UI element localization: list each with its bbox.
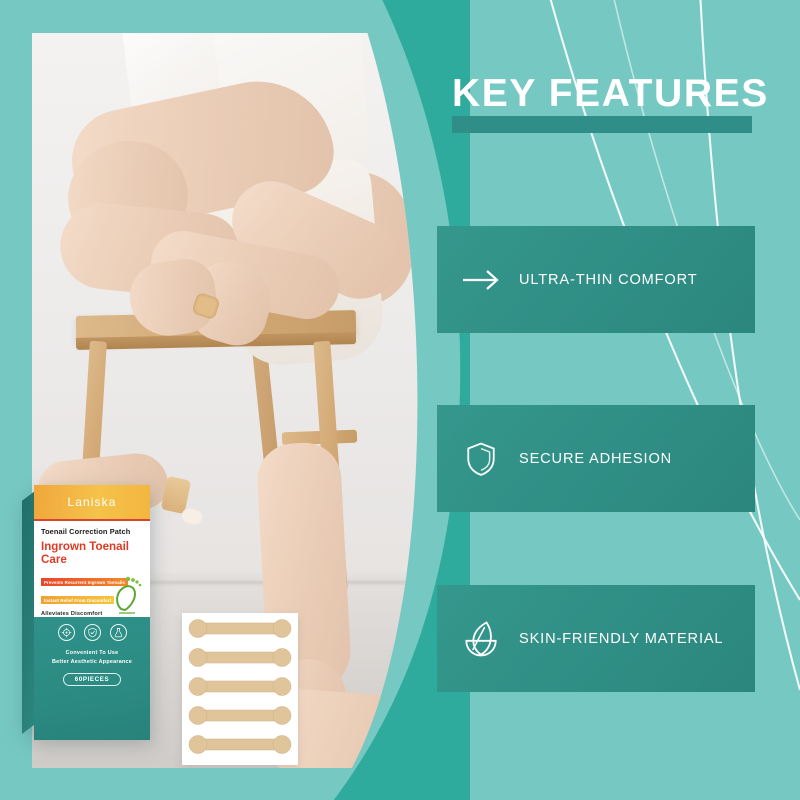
quantity-badge: 60PIECES <box>63 673 121 686</box>
page-title: KEY FEATURES <box>452 74 769 113</box>
box-upper-section: Toenail Correction Patch Ingrown Toenail… <box>34 521 150 617</box>
shield-icon <box>459 437 503 481</box>
box-subtitle: Toenail Correction Patch <box>41 528 143 537</box>
shield-check-icon <box>84 624 101 641</box>
patch-strips <box>182 613 298 765</box>
feature-label: ULTRA-THIN COMFORT <box>519 272 698 288</box>
arrow-right-icon <box>459 258 503 302</box>
brand-name: Laniska <box>67 495 116 509</box>
box-tag: Instant Relief From Discomfort <box>41 596 114 604</box>
box-lower-section: Convenient To Use Better Aesthetic Appea… <box>34 617 150 740</box>
feature-card-secure-adhesion[interactable]: SECURE ADHESION <box>437 405 755 512</box>
leaf-icon <box>459 617 503 661</box>
box-front-panel: Laniska Toenail Correction Patch Ingrown… <box>34 485 150 740</box>
toenail-lower <box>391 753 418 768</box>
page-title-wrap: KEY FEATURES <box>452 74 769 113</box>
feature-label: SKIN-FRIENDLY MATERIAL <box>519 631 723 647</box>
patch-sheet <box>182 613 298 765</box>
box-brand-band: Laniska <box>34 485 150 519</box>
product-package-box: Laniska Toenail Correction Patch Ingrown… <box>22 485 150 740</box>
box-benefit: Convenient To Use <box>66 650 119 656</box>
feature-card-skin-friendly-material[interactable]: SKIN-FRIENDLY MATERIAL <box>437 585 755 692</box>
flask-icon <box>110 624 127 641</box>
feature-label: SECURE ADHESION <box>519 451 672 467</box>
heading-underline-bar <box>452 116 752 133</box>
green-foot-logo <box>111 569 145 615</box>
box-feature-icons <box>58 624 127 641</box>
target-icon <box>58 624 75 641</box>
box-benefit: Better Aesthetic Appearance <box>52 659 132 665</box>
feature-card-ultra-thin-comfort[interactable]: ULTRA-THIN COMFORT <box>437 226 755 333</box>
box-title: Ingrown Toenail Care <box>41 540 143 566</box>
